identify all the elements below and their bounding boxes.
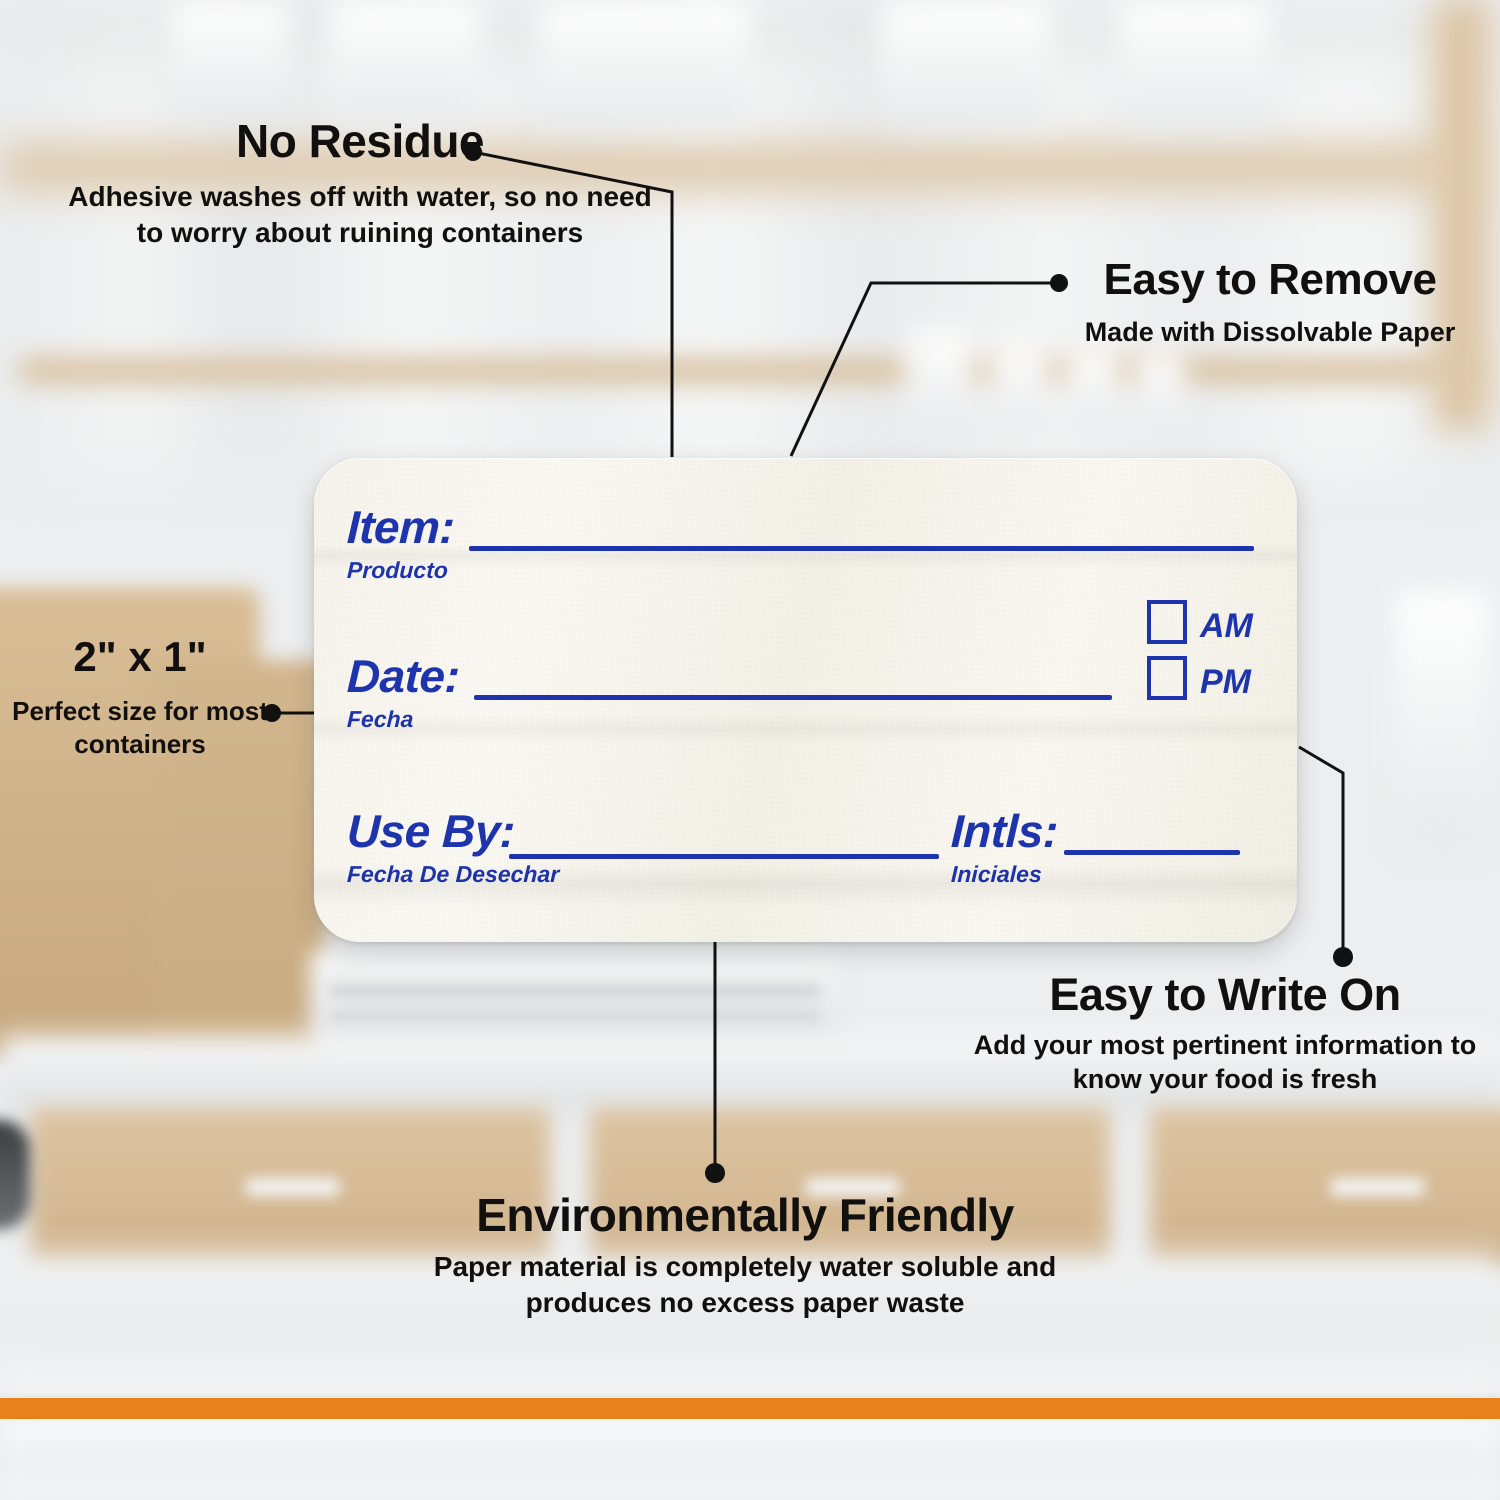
background-appliance [0,1120,30,1230]
label-date-subtext: Fecha [347,708,460,731]
background-bottle [1135,350,1185,435]
callout-easy-to-write-on-body: Add your most pertinent information to k… [970,1028,1480,1097]
label-am-text: AM [1200,609,1253,643]
label-use-by-write-line[interactable] [509,854,939,859]
label-item-text: Item: [346,504,455,550]
infographic-canvas: Item: Producto Date: Fecha AM PM Use By:… [0,0,1500,1500]
callout-easy-to-remove-title: Easy to Remove [1055,258,1485,303]
label-date-write-line[interactable] [474,695,1112,700]
label-initials-write-line[interactable] [1064,850,1240,855]
background-wood-column [1430,0,1500,430]
background-canister [880,0,1050,130]
label-initials-subtext: Iniciales [951,863,1059,886]
callout-easy-to-write-on-title: Easy to Write On [970,972,1480,1018]
callout-easy-to-remove-body: Made with Dissolvable Paper [1055,315,1485,350]
label-pm-checkbox[interactable] [1147,656,1187,700]
background-utensil-block [1395,590,1490,850]
callout-size: 2" x 1" Perfect size for most containers [0,636,280,761]
background-bottle [990,340,1050,435]
callout-environmentally-friendly: Environmentally Friendly Paper material … [375,1192,1115,1321]
label-am-checkbox[interactable] [1147,600,1187,644]
background-drawer [1150,1108,1500,1268]
callout-size-body: Perfect size for most containers [0,695,280,762]
label-initials-text: Intls: [950,808,1058,854]
callout-size-title: 2" x 1" [0,636,280,679]
background-baseboard [0,1418,1500,1500]
callout-no-residue-title: No Residue [60,118,660,165]
callout-easy-to-write-on: Easy to Write On Add your most pertinent… [970,972,1480,1097]
background-bottle [905,330,975,435]
food-rotation-label[interactable]: Item: Producto Date: Fecha AM PM Use By:… [314,458,1297,942]
orange-accent-bar [0,1398,1500,1419]
background-bottle [1065,345,1120,435]
label-item-write-line[interactable] [469,546,1254,551]
callout-environmentally-friendly-body: Paper material is completely water solub… [375,1249,1115,1321]
label-use-by-subtext: Fecha De Desechar [347,863,560,886]
callout-no-residue-body: Adhesive washes off with water, so no ne… [60,179,660,251]
callout-no-residue: No Residue Adhesive washes off with wate… [60,118,660,251]
background-wood-rail [20,358,1480,384]
label-item-subtext: Producto [347,559,455,582]
label-pm-text: PM [1200,665,1251,699]
background-drawer-pull [1330,1178,1425,1196]
background-canister [540,0,750,130]
background-canister [1120,0,1270,132]
background-canister [330,0,480,125]
background-rack-bar [330,985,820,997]
label-use-by-text: Use By: [346,808,560,854]
callout-environmentally-friendly-title: Environmentally Friendly [375,1192,1115,1239]
background-canister [170,0,290,120]
background-drawer-pull [245,1178,340,1196]
background-rack-bar [330,1012,820,1022]
callout-easy-to-remove: Easy to Remove Made with Dissolvable Pap… [1055,258,1485,349]
label-date-text: Date: [346,653,460,699]
